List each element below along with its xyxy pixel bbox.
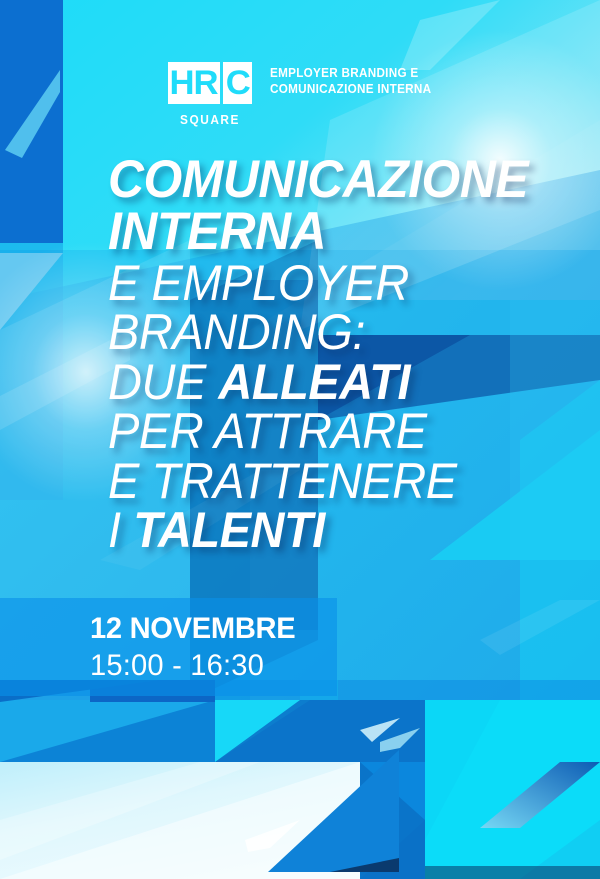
- headline-line-1: COMUNICAZIONE: [108, 154, 550, 206]
- headline: COMUNICAZIONE INTERNA E EMPLOYER BRANDIN…: [108, 154, 578, 556]
- headline-line-3: E EMPLOYER: [108, 259, 550, 309]
- tagline-line-1: EMPLOYER BRANDING E: [270, 65, 431, 81]
- tagline-line-2: COMUNICAZIONE INTERNA: [270, 81, 431, 97]
- event-datetime: 12 NOVEMBRE 15:00 - 16:30: [90, 612, 302, 684]
- event-date: 12 NOVEMBRE: [90, 612, 295, 646]
- headline-line-8-text: I: [108, 502, 133, 558]
- headline-line-8: I TALENTI: [108, 506, 550, 556]
- headline-line-2: INTERNA: [108, 206, 550, 258]
- headline-line-5-emphasis: ALLEATI: [218, 354, 410, 410]
- headline-line-8-emphasis: TALENTI: [133, 502, 325, 558]
- logo-boxes: HR C: [168, 62, 252, 104]
- headline-line-5-text: DUE: [108, 354, 218, 410]
- logo-letters-c: C: [225, 66, 249, 100]
- hrc-logo: HR C SQUARE: [168, 62, 252, 127]
- logo-box-hr: HR: [168, 62, 220, 104]
- logo-box-c: C: [223, 62, 252, 104]
- headline-line-7: E TRATTENERE: [108, 457, 550, 507]
- logo-letters-hr: HR: [170, 66, 218, 100]
- headline-line-4: BRANDING:: [108, 308, 550, 358]
- brand-header: HR C SQUARE EMPLOYER BRANDING E COMUNICA…: [168, 62, 444, 127]
- headline-line-5: DUE ALLEATI: [108, 358, 550, 408]
- poster-content: HR C SQUARE EMPLOYER BRANDING E COMUNICA…: [0, 0, 600, 879]
- headline-line-6: PER ATTRARE: [108, 407, 550, 457]
- event-time: 15:00 - 16:30: [90, 648, 295, 684]
- event-tagline: EMPLOYER BRANDING E COMUNICAZIONE INTERN…: [270, 65, 431, 97]
- poster: HR C SQUARE EMPLOYER BRANDING E COMUNICA…: [0, 0, 600, 879]
- logo-subtitle: SQUARE: [170, 113, 250, 127]
